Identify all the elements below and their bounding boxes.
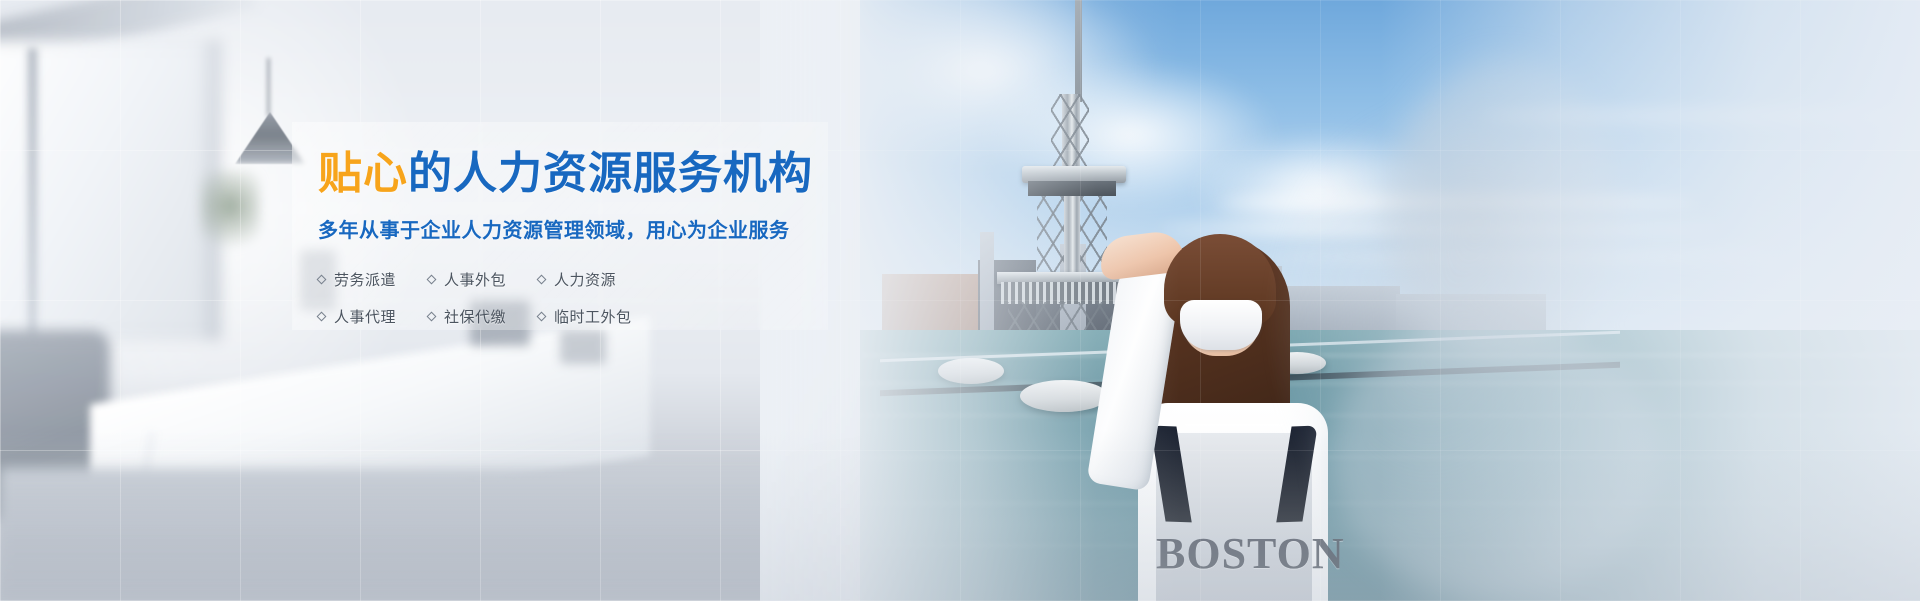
service-tag[interactable]: 临时工外包 <box>538 306 648 327</box>
service-tag[interactable]: 人事代理 <box>318 306 428 327</box>
service-tag[interactable]: 人事外包 <box>428 269 538 290</box>
service-tag-list: 劳务派遣 人事外包 人力资源 人事代理 社保代缴 <box>318 269 648 327</box>
cloud-streak-4 <box>1480 110 1900 122</box>
diamond-bullet-icon <box>317 311 327 321</box>
banner-copy: 贴心的人力资源服务机构 多年从事于企业人力资源管理领域，用心为企业服务 劳务派遣… <box>318 148 838 343</box>
service-tag[interactable]: 劳务派遣 <box>318 269 428 290</box>
service-tag-row: 人事代理 社保代缴 临时工外包 <box>318 306 648 327</box>
service-tag-label: 人力资源 <box>554 269 616 290</box>
headline-accent: 贴心 <box>318 149 408 198</box>
page-subtitle: 多年从事于企业人力资源管理领域，用心为企业服务 <box>318 214 838 243</box>
service-tag-label: 临时工外包 <box>554 306 632 327</box>
diamond-bullet-icon <box>537 274 547 284</box>
tower-lattice-upper <box>1051 94 1089 172</box>
woman-subject: BOSTON <box>1060 228 1360 601</box>
face-mask <box>1180 300 1262 350</box>
service-tag-row: 劳务派遣 人事外包 人力资源 <box>318 269 648 290</box>
service-tag-label: 劳务派遣 <box>334 269 396 290</box>
tower-antenna-mast <box>1075 0 1082 102</box>
headline-main: 的人力资源服务机构 <box>408 149 813 198</box>
window-frame <box>28 48 37 338</box>
lamp-cord <box>267 58 270 116</box>
tower-deck-underside <box>1028 181 1116 196</box>
service-tag[interactable]: 人力资源 <box>538 269 648 290</box>
diamond-bullet-icon <box>427 311 437 321</box>
service-tag[interactable]: 社保代缴 <box>428 306 538 327</box>
office-plant <box>200 170 260 260</box>
service-tag-label: 社保代缴 <box>444 306 506 327</box>
vest-logo-text: BOSTON <box>1156 528 1312 579</box>
diamond-bullet-icon <box>317 274 327 284</box>
cloud-streak-1 <box>1220 196 1700 210</box>
city-photo: BOSTON <box>860 0 1920 601</box>
service-tag-label: 人事外包 <box>444 269 506 290</box>
service-tag-label: 人事代理 <box>334 306 396 327</box>
page-title: 贴心的人力资源服务机构 <box>318 148 838 200</box>
diamond-bullet-icon <box>427 274 437 284</box>
hero-banner: BOSTON 贴心的人力资源服务机构 多年从事于企业人力资源管理领域，用心为企业… <box>0 0 1920 601</box>
stone-1 <box>938 358 1004 384</box>
diamond-bullet-icon <box>537 311 547 321</box>
